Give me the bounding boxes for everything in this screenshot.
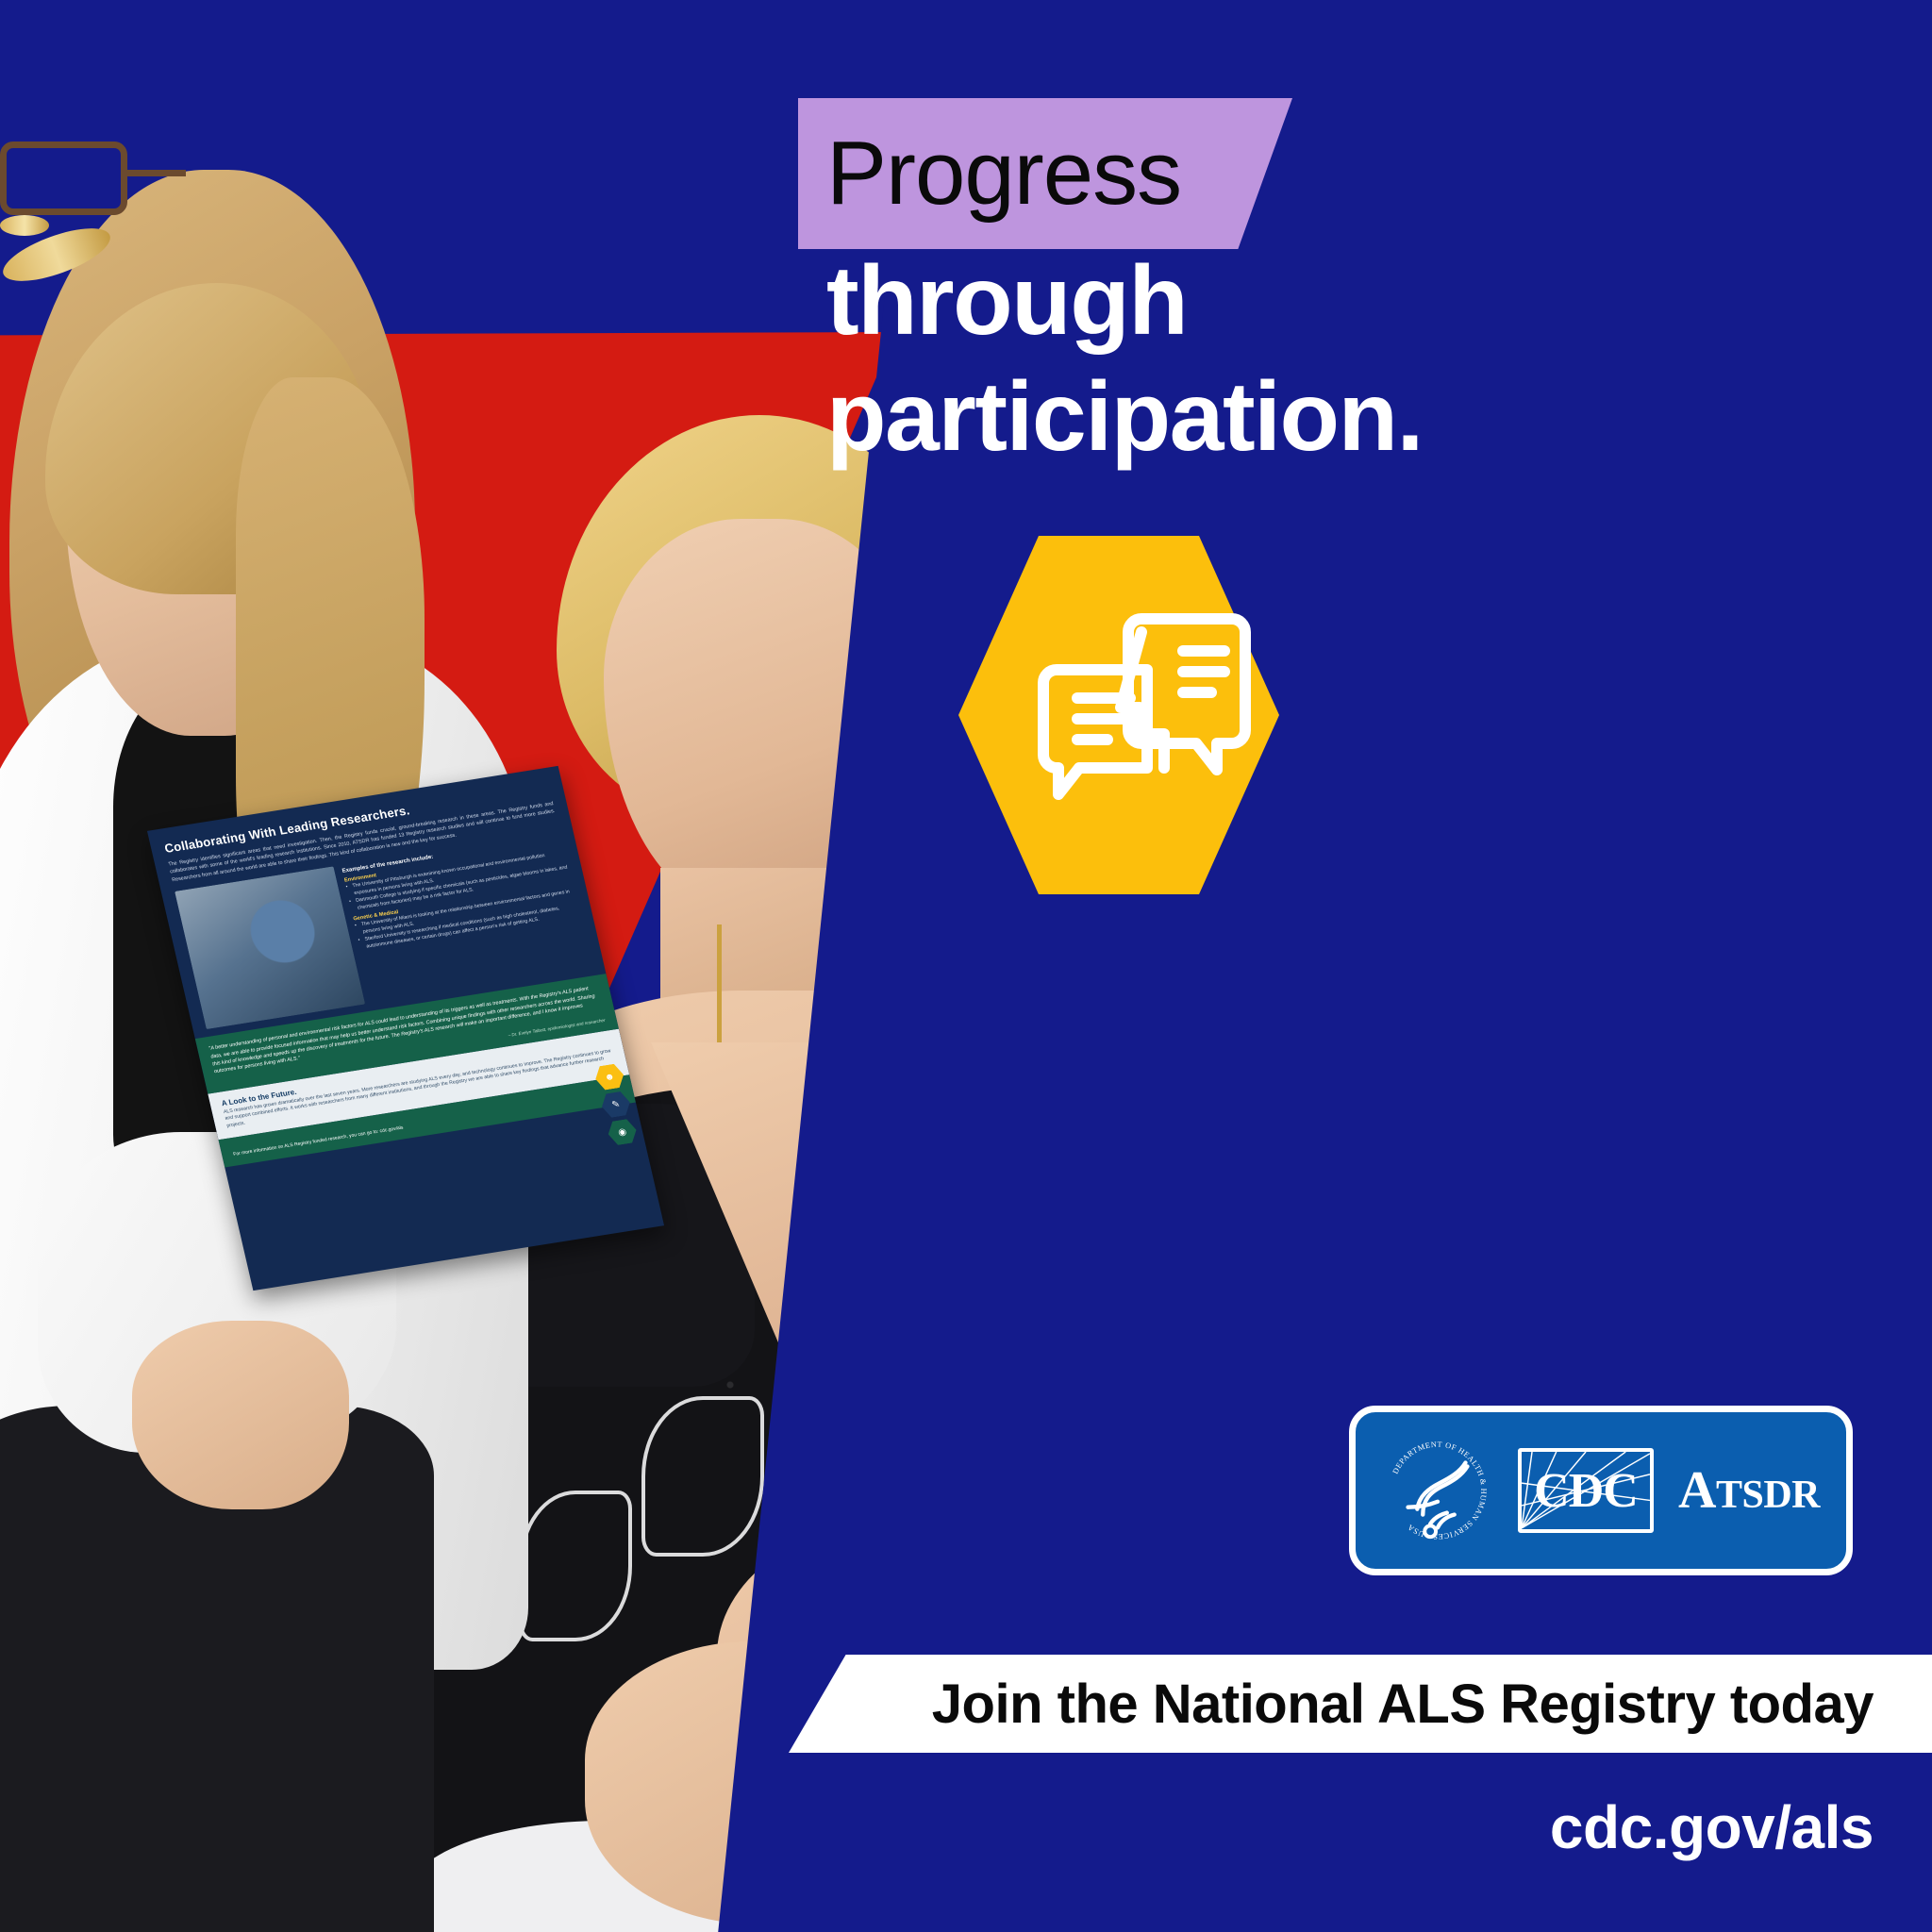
progress-banner-text: Progress (798, 128, 1181, 219)
brochure-hex-globe-icon: ◉ (606, 1118, 640, 1146)
cdc-wordmark: CDC (1518, 1448, 1654, 1533)
headline-line-participation: participation. (826, 359, 1902, 475)
headline-block: through participation. (826, 243, 1902, 475)
poster-canvas: Collaborating With Leading Researchers. … (0, 0, 1932, 1932)
speech-bubbles-profile-icon (1036, 608, 1253, 806)
brochure-lab-photo (175, 866, 365, 1029)
atsdr-text: ATSDR (1678, 1460, 1820, 1521)
cdc-text: CDC (1534, 1463, 1638, 1519)
progress-banner: Progress (798, 98, 1292, 249)
brochure-hex-chat-icon: ✎ (599, 1091, 633, 1119)
cta-banner: Join the National ALS Registry today (789, 1655, 1932, 1753)
atsdr-text-rest: TSDR (1716, 1474, 1820, 1517)
dress-pattern (519, 1491, 632, 1641)
dress-pattern (641, 1396, 764, 1557)
hhs-seal-icon: DEPARTMENT OF HEALTH & HUMAN SERVICES · … (1382, 1435, 1493, 1546)
brochure-hex-head-icon: ☻ (592, 1063, 626, 1091)
headline-line-through: through (826, 243, 1902, 359)
clinician-hand (132, 1321, 349, 1509)
cdc-atsdr-logo: DEPARTMENT OF HEALTH & HUMAN SERVICES · … (1349, 1406, 1853, 1575)
cta-banner-text: Join the National ALS Registry today (932, 1673, 1932, 1736)
cdc-url[interactable]: cdc.gov/als (1550, 1792, 1874, 1862)
patient-ring (0, 215, 49, 236)
